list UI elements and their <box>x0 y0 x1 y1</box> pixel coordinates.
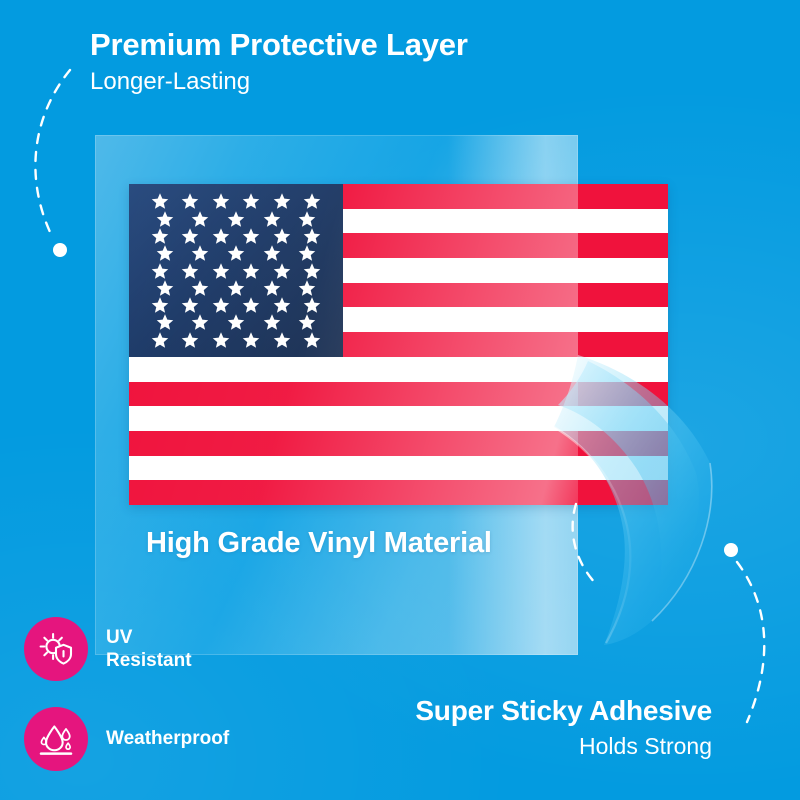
flag-star <box>181 262 199 280</box>
flag-star <box>181 331 199 349</box>
flag-star <box>242 192 260 210</box>
flag-star <box>242 262 260 280</box>
feature-badge-uv-resistant: UV Resistant <box>24 617 192 681</box>
flag-stripe-13 <box>129 480 668 505</box>
flag-star <box>151 262 169 280</box>
flag-star <box>151 227 169 245</box>
flag-star <box>303 227 321 245</box>
flag-star <box>227 313 245 331</box>
flag-star <box>156 279 174 297</box>
flag-star <box>263 313 281 331</box>
flag-stripe-11 <box>129 431 668 456</box>
flag-star <box>303 331 321 349</box>
flag-star <box>273 296 291 314</box>
flag-star <box>212 296 230 314</box>
flag-star <box>151 331 169 349</box>
flag-stripe-8 <box>129 357 668 382</box>
flag-star <box>242 296 260 314</box>
flag-star <box>191 244 209 262</box>
flag-star <box>298 279 316 297</box>
flag-star <box>212 192 230 210</box>
flag-star <box>191 279 209 297</box>
sun-shield-icon <box>36 629 76 669</box>
badge-circle-weatherproof <box>24 707 88 771</box>
flag-star <box>212 227 230 245</box>
flag-stripe-10 <box>129 406 668 431</box>
badge-circle-uv <box>24 617 88 681</box>
flag-stripe-12 <box>129 456 668 481</box>
adhesive-text-block: Super Sticky Adhesive Holds Strong <box>415 696 712 761</box>
adhesive-subtitle: Holds Strong <box>415 732 712 761</box>
flag-star <box>227 244 245 262</box>
flag-star <box>303 296 321 314</box>
flag-star <box>273 227 291 245</box>
flag-star <box>212 262 230 280</box>
flag-star <box>181 296 199 314</box>
flag-star <box>156 210 174 228</box>
dashed-pointer-arc-middle <box>560 500 620 610</box>
badge-label-uv: UV Resistant <box>106 626 192 672</box>
flag-star <box>227 279 245 297</box>
flag-star <box>242 227 260 245</box>
page-subtitle: Longer-Lasting <box>90 67 690 97</box>
dashed-pointer-arc-bottom-right <box>705 536 800 746</box>
header-text-block: Premium Protective Layer Longer-Lasting <box>90 28 690 97</box>
flag-star <box>191 313 209 331</box>
flag-star <box>298 210 316 228</box>
flag-star <box>263 244 281 262</box>
flag-star <box>156 313 174 331</box>
flag-star <box>303 192 321 210</box>
flag-star <box>298 244 316 262</box>
adhesive-title: Super Sticky Adhesive <box>415 696 712 727</box>
flag-star <box>181 192 199 210</box>
flag-star <box>303 262 321 280</box>
flag-stripe-9 <box>129 382 668 407</box>
flag-star <box>151 192 169 210</box>
flag-canton <box>129 184 343 357</box>
flag-star <box>212 331 230 349</box>
flag-star <box>273 331 291 349</box>
flag-star <box>151 296 169 314</box>
flag-star <box>191 210 209 228</box>
page-title: Premium Protective Layer <box>90 28 690 63</box>
flag-star <box>273 192 291 210</box>
flag-star <box>263 279 281 297</box>
flag-star <box>263 210 281 228</box>
product-infographic: Premium Protective Layer Longer-Lasting <box>0 0 800 800</box>
water-droplet-icon <box>36 719 76 759</box>
badge-label-weatherproof: Weatherproof <box>106 727 229 750</box>
flag-star <box>242 331 260 349</box>
flag-star <box>156 244 174 262</box>
flag-star <box>181 227 199 245</box>
vinyl-material-caption: High Grade Vinyl Material <box>146 527 492 560</box>
feature-badge-weatherproof: Weatherproof <box>24 707 229 771</box>
flag-star <box>273 262 291 280</box>
united-states-flag <box>129 184 668 505</box>
flag-star <box>298 313 316 331</box>
flag-star <box>227 210 245 228</box>
